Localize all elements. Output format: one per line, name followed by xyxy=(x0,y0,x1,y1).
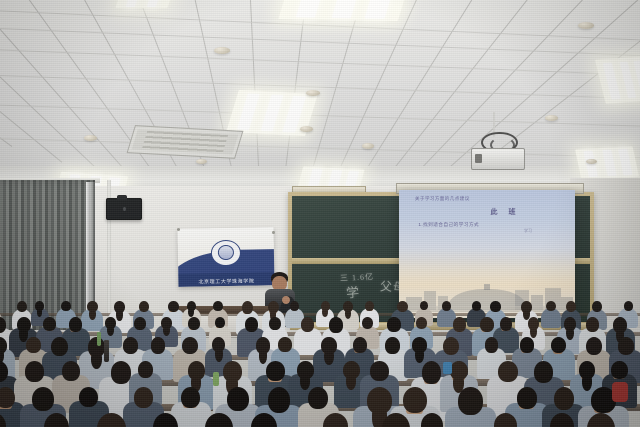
smoke-detector-7 xyxy=(362,143,374,149)
audience-member-head xyxy=(534,361,553,383)
audience-member-head xyxy=(278,337,292,352)
audience-member-head xyxy=(61,301,70,311)
ceiling-ac-vent xyxy=(127,125,244,159)
audience-member-head xyxy=(442,301,451,311)
audience-member-head xyxy=(387,317,401,332)
ceiling-grid-line xyxy=(0,22,640,62)
audience-member-head xyxy=(385,337,399,354)
audience-member-head xyxy=(624,301,634,311)
audience-member-ponytail xyxy=(582,373,592,390)
audience-member-head xyxy=(32,387,54,411)
speaker-mount-bracket xyxy=(117,195,127,199)
audience-member-ponytail xyxy=(530,326,537,338)
smoke-detector-5 xyxy=(545,115,558,121)
audience-member-ponytail xyxy=(107,325,114,336)
smoke-detector-8 xyxy=(196,159,207,164)
ceiling-grid-line xyxy=(0,70,640,104)
thermos-bottle xyxy=(104,340,109,362)
audience-member-head xyxy=(485,337,499,353)
slide-heading: 关于学习方面的几点建议 xyxy=(415,196,470,202)
audience-member-head xyxy=(25,361,44,382)
audience-member-head xyxy=(242,301,253,314)
audience-member-head xyxy=(26,337,40,353)
audience-member-head xyxy=(182,337,198,354)
audience-member-head xyxy=(245,317,259,332)
smoke-detector-3 xyxy=(306,90,320,96)
wall-loudspeaker xyxy=(106,198,142,220)
banner-clip-right xyxy=(272,231,275,234)
audience-member-head xyxy=(618,337,635,355)
audience-member-head xyxy=(458,387,483,415)
ceiling-grid-line xyxy=(0,0,13,147)
audience-member-head xyxy=(546,301,556,311)
audience-member-head xyxy=(362,317,373,329)
audience-member-head xyxy=(517,387,538,409)
fluorescent-panel-right-lower xyxy=(575,147,639,180)
audience-member-head xyxy=(301,317,314,332)
institution-banner: 北京理工大学珠海学院 xyxy=(178,227,275,287)
audience-member-head xyxy=(213,301,223,311)
audience-member-head xyxy=(268,387,290,413)
audience-member-head xyxy=(215,317,226,328)
audience-member-head xyxy=(111,361,132,384)
audience-member-head xyxy=(43,317,56,331)
audience-member-head xyxy=(416,317,427,329)
audience-member-torso xyxy=(541,308,561,328)
projector-body xyxy=(471,148,525,170)
audience-member-head xyxy=(181,387,200,408)
audience-member-head xyxy=(498,361,518,382)
audience-member-head xyxy=(62,361,80,381)
audience-member-head xyxy=(266,361,285,381)
audience-member-head xyxy=(323,413,348,427)
audience-member-ponytail xyxy=(89,309,96,320)
slide-bullet: 1.找到适合自己的学习方式 xyxy=(418,221,479,228)
slide-big-text: 此 班 xyxy=(491,207,518,217)
audience-member-head xyxy=(422,361,441,384)
lecture-hall-photo: 三 1.6亿 学 父母 关于学习方面的几点建议 此 班 1.找到适合自己的学习方… xyxy=(0,0,640,427)
ceiling-projector xyxy=(471,134,523,170)
audience-member-head xyxy=(500,317,512,331)
audience-member-ponytail xyxy=(566,327,574,340)
audience-member-head xyxy=(308,387,327,409)
audience-member-head xyxy=(188,317,200,330)
audience-member-head xyxy=(17,301,27,312)
audience-member-head xyxy=(480,317,494,332)
audience-member-head xyxy=(139,301,149,312)
ceiling-grid-line xyxy=(0,44,640,81)
audience-member-head xyxy=(566,301,576,312)
audience-member-head xyxy=(123,337,138,354)
audience-member-head xyxy=(370,361,389,381)
audience-member-head xyxy=(168,301,179,312)
smoke-detector-2 xyxy=(214,47,230,54)
audience-member-head xyxy=(592,301,602,312)
audience-member-head xyxy=(490,301,500,312)
smoke-detector-9 xyxy=(586,159,597,164)
blue-tumbler xyxy=(443,362,452,374)
audience-member-head xyxy=(472,301,481,311)
smoke-detector-4 xyxy=(300,126,313,132)
smoke-detector-6 xyxy=(84,135,97,141)
audience-member-head xyxy=(453,317,466,332)
audience-member-ponytail xyxy=(215,347,223,361)
green-bottle-2 xyxy=(213,372,219,386)
audience-member-head xyxy=(151,337,166,354)
audience-member-head xyxy=(353,337,367,353)
audience xyxy=(0,287,640,427)
audience-member-ponytail xyxy=(415,348,424,363)
audience-member-head xyxy=(397,301,408,312)
audience-member-head xyxy=(134,387,154,408)
audience-member-head xyxy=(611,361,628,379)
audience-member-ponytail xyxy=(322,308,327,318)
smoke-detector-1 xyxy=(578,22,594,29)
audience-member-ponytail xyxy=(324,349,333,365)
audience-member-head xyxy=(227,387,249,411)
banner-clip-left xyxy=(177,228,180,231)
fluorescent-panel-top-strip xyxy=(278,0,405,21)
audience-member-ponytail xyxy=(37,308,42,317)
audience-member-head xyxy=(443,337,459,355)
audience-member-head xyxy=(365,301,374,311)
audience-member-head xyxy=(520,337,535,353)
red-backpack xyxy=(612,382,628,402)
audience-member-head xyxy=(554,387,574,410)
green-water-bottle xyxy=(97,332,101,346)
audience-member-head xyxy=(586,337,602,355)
audience-member-head xyxy=(329,317,342,333)
fluorescent-panel-top-left xyxy=(115,0,172,8)
slide-footnote: 学习 xyxy=(524,228,532,234)
audience-member-head xyxy=(51,337,68,356)
audience-member-head xyxy=(586,317,599,332)
audience-member-head xyxy=(551,337,566,353)
audience-member-ponytail xyxy=(163,325,170,336)
audience-member-head xyxy=(403,387,427,413)
audience-member-head xyxy=(69,317,82,332)
audience-member-ponytail xyxy=(116,309,123,320)
audience-member-head xyxy=(79,387,98,407)
audience-member-head xyxy=(134,317,146,330)
audience-member-head xyxy=(138,361,153,378)
